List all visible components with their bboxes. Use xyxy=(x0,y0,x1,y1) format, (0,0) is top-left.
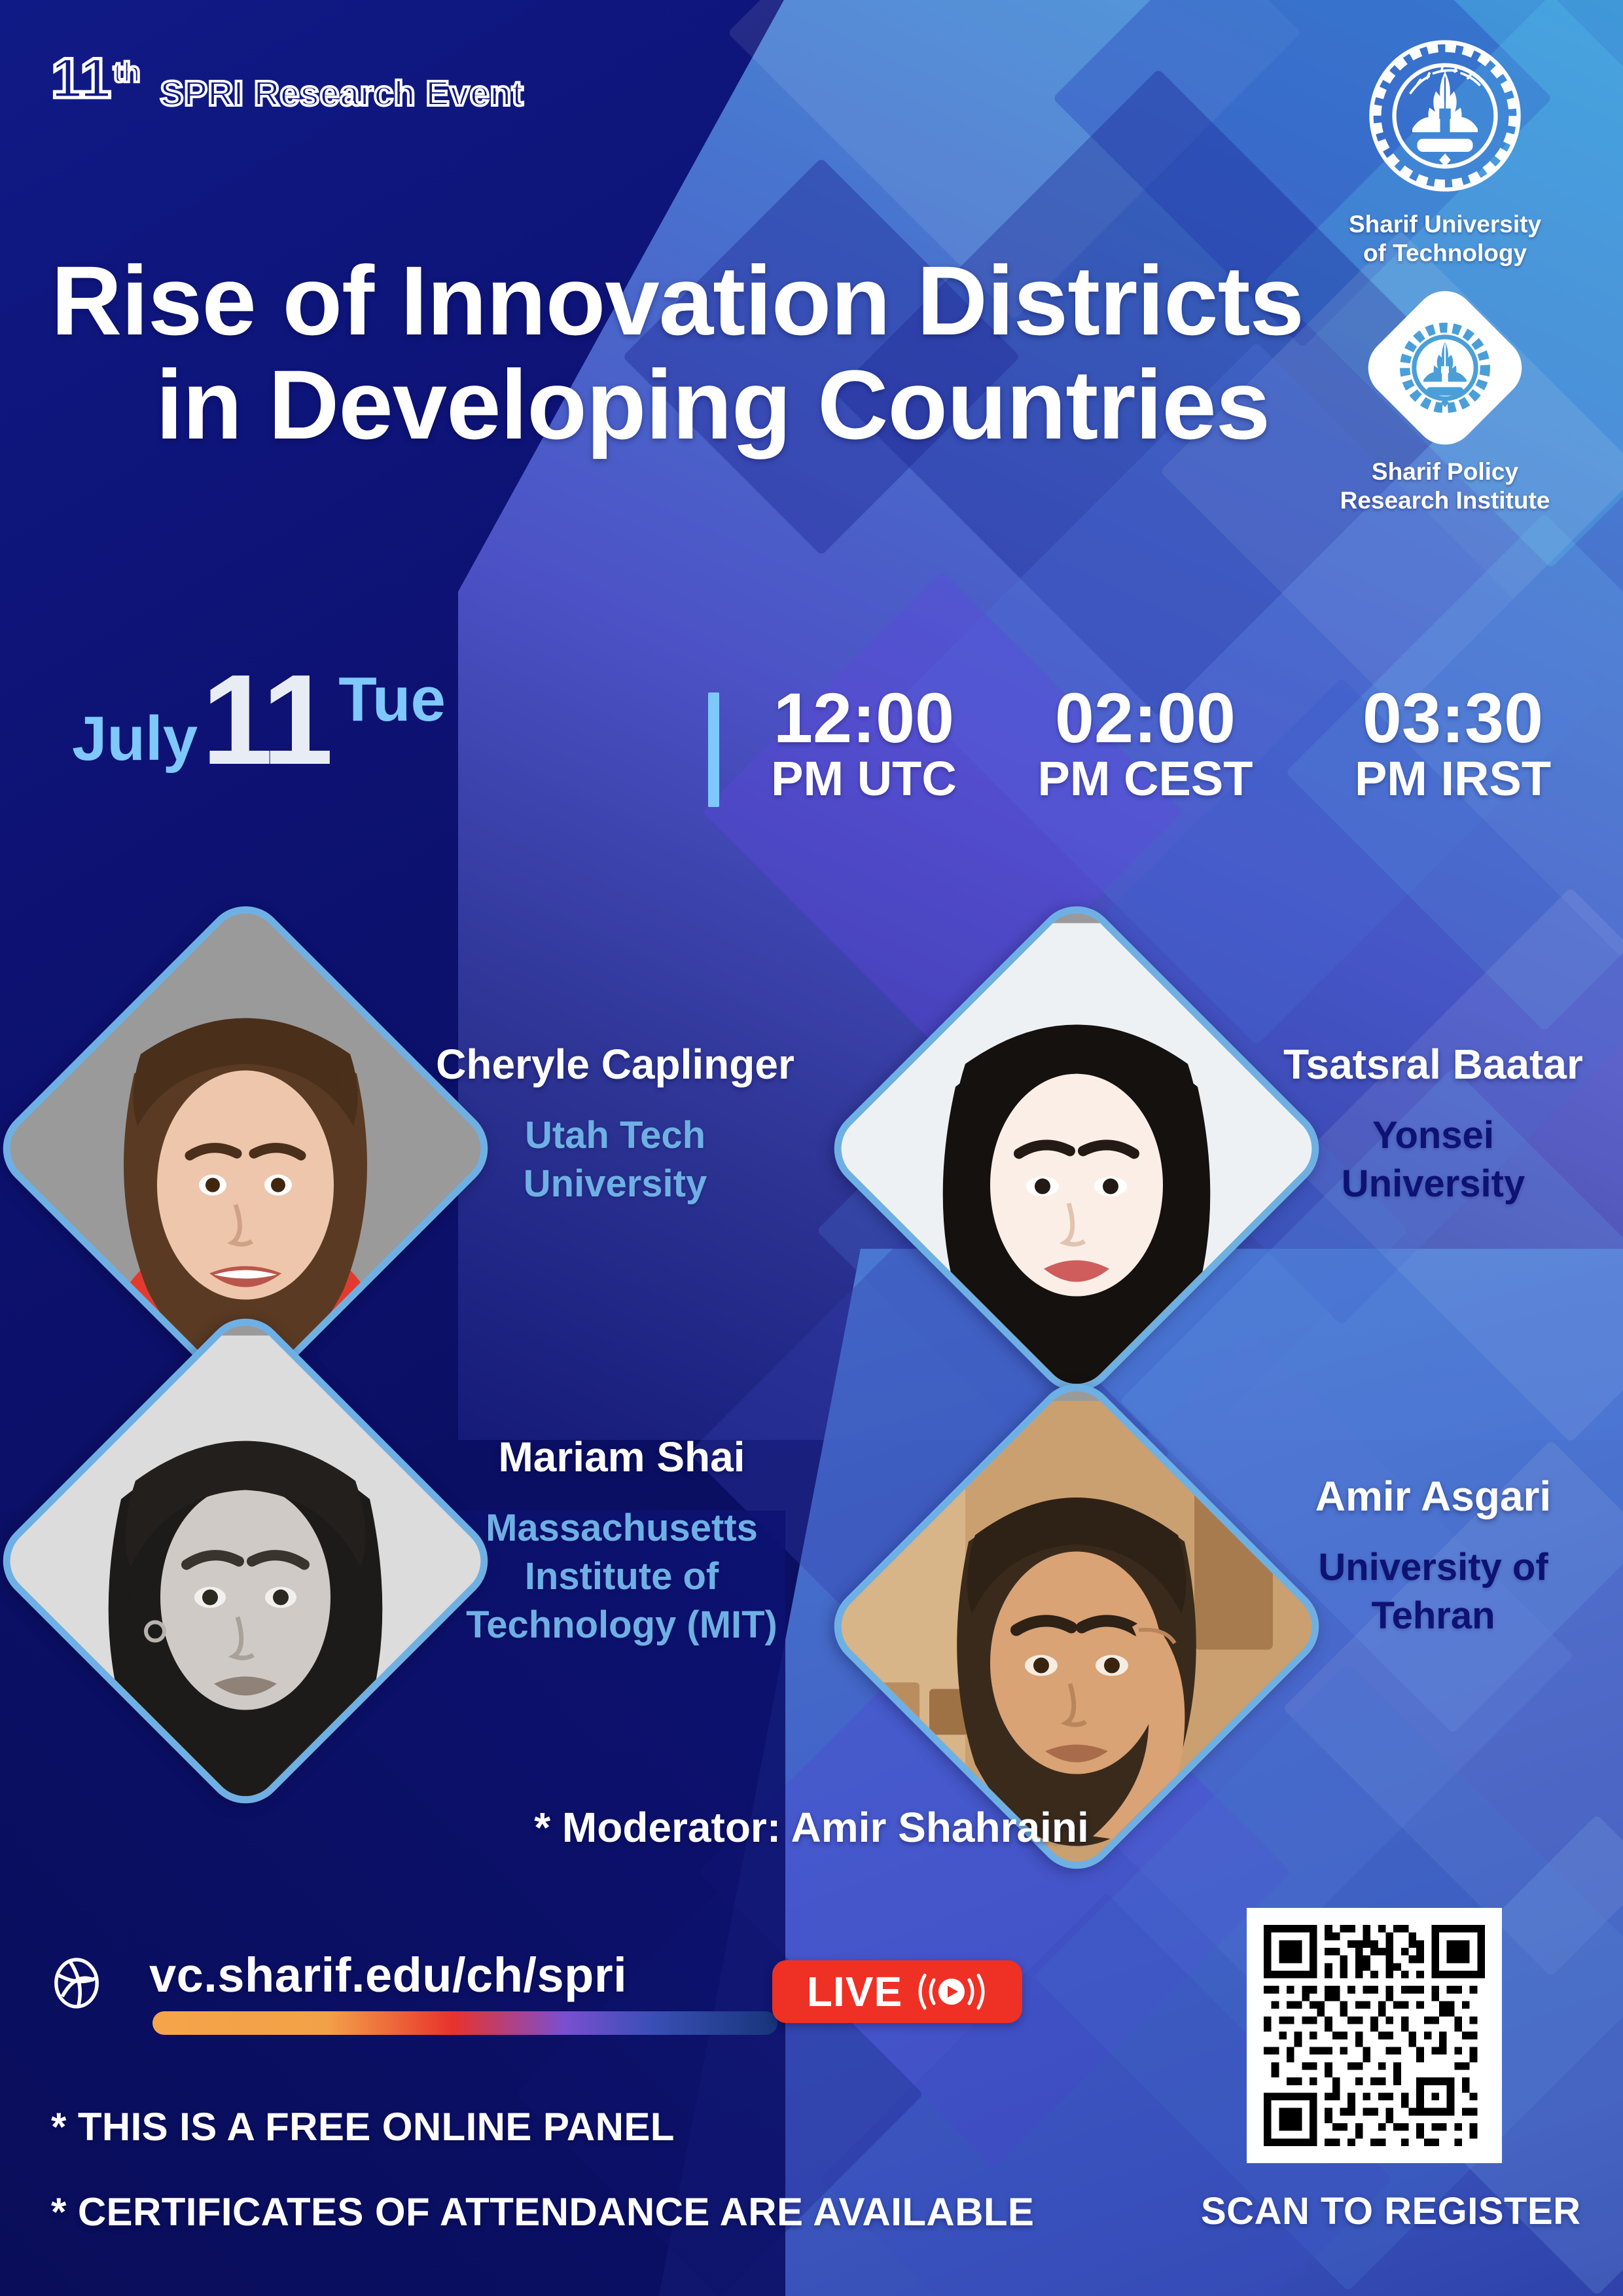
dribbble-icon xyxy=(51,1958,102,2009)
timezone-irst-time: 03:30 xyxy=(1335,681,1571,755)
qr-code[interactable] xyxy=(1247,1908,1502,2163)
speaker-info: Mariam Shai Massachusetts Institute of T… xyxy=(432,1433,811,1649)
note-certificates: * CERTIFICATES OF ATTENDANCE ARE AVAILAB… xyxy=(51,2189,1034,2234)
speaker-affiliation: Massachusetts Institute of Technology (M… xyxy=(432,1504,811,1650)
event-day: 11 xyxy=(202,661,329,779)
timezone-cest-time: 02:00 xyxy=(1014,681,1276,755)
speaker-affiliation: Yonsei University xyxy=(1263,1111,1603,1208)
moderator-note: * Moderator: Amir Shahraini xyxy=(0,1803,1623,1852)
sharif-university-caption-line2: of Technology xyxy=(1363,240,1527,266)
speaker-name: Tsatsral Baatar xyxy=(1263,1041,1603,1089)
speaker-name: Amir Asgari xyxy=(1257,1473,1610,1521)
broadcast-play-icon xyxy=(916,1970,988,2013)
stream-url-row: vc.sharif.edu/ch/spri xyxy=(51,1947,771,2032)
speaker-name: Cheryle Caplinger xyxy=(432,1041,798,1089)
qr-registration-block: SCAN TO REGISTER xyxy=(1247,1908,1502,2233)
timezone-cest: 02:00 PM CEST xyxy=(1014,681,1276,806)
timezone-utc-label: PM UTC xyxy=(753,752,975,805)
event-poster: 11 th SPRI Research Event xyxy=(0,0,1623,2296)
live-badge: LIVE xyxy=(772,1960,1022,2023)
timezone-cest-label: PM CEST xyxy=(1014,752,1276,805)
qr-caption: SCAN TO REGISTER xyxy=(1201,2189,1502,2233)
vertical-divider xyxy=(708,692,719,807)
poster-title-line2: in Developing Countries xyxy=(51,353,1334,457)
timezone-utc: 12:00 PM UTC xyxy=(753,681,975,806)
logo-stack: Sharif University of Technology xyxy=(1308,34,1582,515)
stream-url[interactable]: vc.sharif.edu/ch/spri xyxy=(149,1947,627,2003)
timezone-irst: 03:30 PM IRST xyxy=(1335,681,1571,806)
speaker-info: Amir Asgari University of Tehran xyxy=(1257,1473,1610,1640)
event-weekday: Tue xyxy=(338,664,446,736)
speaker-affiliation: University of Tehran xyxy=(1257,1543,1610,1640)
speaker-info: Tsatsral Baatar Yonsei University xyxy=(1263,1041,1603,1208)
speaker-info: Cheryle Caplinger Utah Tech University xyxy=(432,1041,798,1208)
url-gradient-bar xyxy=(152,2011,777,2035)
timezone-irst-label: PM IRST xyxy=(1335,752,1571,805)
qr-code-matrix xyxy=(1264,1925,1485,2146)
date-time-bar: July 11 Tue 12:00 PM UTC 02:00 PM CEST 0… xyxy=(72,661,1577,831)
speaker-affiliation: Utah Tech University xyxy=(432,1111,798,1208)
event-month: July xyxy=(72,703,198,775)
speaker-name: Mariam Shai xyxy=(432,1433,811,1482)
speaker-card-cheryle-caplinger: Cheryle Caplinger Utah Tech University xyxy=(0,0,811,367)
timezone-utc-time: 12:00 xyxy=(753,681,975,755)
sharif-university-caption: Sharif University of Technology xyxy=(1308,210,1582,267)
spri-caption-line1: Sharif Policy xyxy=(1372,458,1518,485)
spri-caption: Sharif Policy Research Institute xyxy=(1308,457,1582,514)
sharif-policy-research-institute-logo-icon xyxy=(1368,291,1522,445)
note-free-panel: * THIS IS A FREE ONLINE PANEL xyxy=(51,2104,675,2149)
event-date: July 11 Tue xyxy=(72,661,446,779)
sharif-university-caption-line1: Sharif University xyxy=(1349,211,1541,238)
sharif-university-logo-icon xyxy=(1363,34,1527,198)
live-label: LIVE xyxy=(807,1971,902,2013)
spri-caption-line2: Research Institute xyxy=(1340,487,1550,514)
